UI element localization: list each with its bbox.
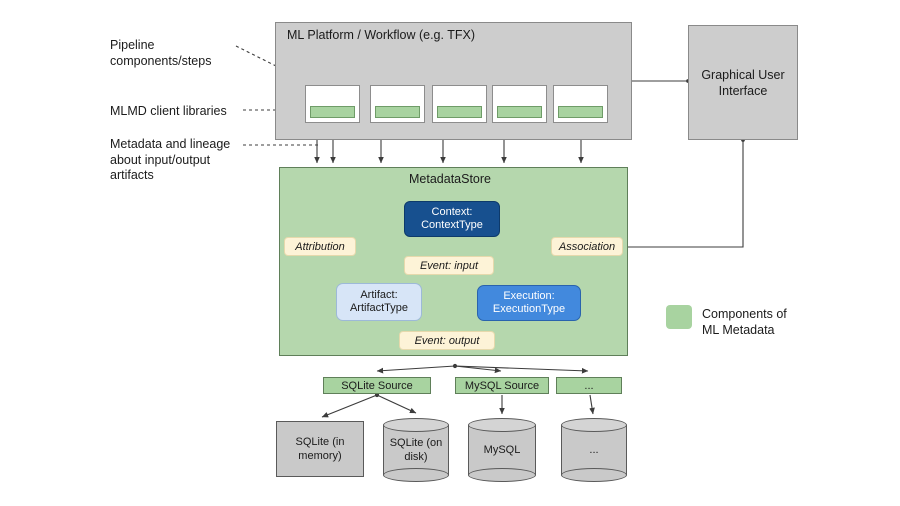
source-other[interactable]: ... [556,377,622,394]
metadata-store-title: MetadataStore [0,172,900,186]
storage-label: MySQL [468,443,536,457]
legend-label: Components of ML Metadata [702,306,787,338]
line-gui-association [623,140,743,247]
pipeline-component-1[interactable] [305,85,360,123]
edge-label-event-output: Event: output [399,331,495,350]
ml-platform-title: ML Platform / Workflow (e.g. TFX) [287,28,475,42]
arrow-othersrc-other [590,395,593,414]
source-mysql[interactable]: MySQL Source [455,377,549,394]
pipeline-component-2[interactable] [370,85,425,123]
storage-sqlite-in-memory: SQLite (in memory) [276,421,364,477]
mlmd-client-library-bar-1 [310,106,355,118]
annotation-mlmd-client-libraries: MLMD client libraries [110,104,227,120]
edge-label-attribution: Attribution [284,237,356,256]
storage-label: SQLite (on disk) [383,436,449,464]
arrow-store-mysqlsrc [455,366,501,371]
arrow-store-sqlitesrc [377,366,455,371]
cylinder-top [383,418,449,432]
arrow-sqlitesrc-disk [377,395,416,413]
edge-label-event-input: Event: input [404,256,494,275]
pipeline-component-3[interactable] [432,85,487,123]
cylinder-top [468,418,536,432]
annotation-pipeline-components: Pipeline components/steps [110,38,211,69]
node-artifact[interactable]: Artifact: ArtifactType [336,283,422,321]
mlmd-client-library-bar-4 [497,106,542,118]
node-execution[interactable]: Execution: ExecutionType [477,285,581,321]
storage-sqlite-on-disk: SQLite (on disk) [383,418,449,482]
cylinder-bottom [383,468,449,482]
node-context[interactable]: Context: ContextType [404,201,500,237]
legend-color-swatch [666,305,692,329]
mlmd-client-library-bar-5 [558,106,603,118]
storage-other: ... [561,418,627,482]
storage-label: ... [561,443,627,457]
cylinder-top [561,418,627,432]
diagram-canvas: Pipeline components/steps MLMD client li… [0,0,900,506]
pipeline-component-4[interactable] [492,85,547,123]
cylinder-bottom [561,468,627,482]
cylinder-bottom [468,468,536,482]
storage-mysql: MySQL [468,418,536,482]
mlmd-client-library-bar-3 [437,106,482,118]
graphical-user-interface-box[interactable]: Graphical User Interface [688,25,798,140]
source-sqlite[interactable]: SQLite Source [323,377,431,394]
arrow-store-othersrc [455,366,588,371]
pipeline-component-5[interactable] [553,85,608,123]
edge-label-association: Association [551,237,623,256]
arrow-sqlitesrc-mem [322,395,377,417]
mlmd-client-library-bar-2 [375,106,420,118]
